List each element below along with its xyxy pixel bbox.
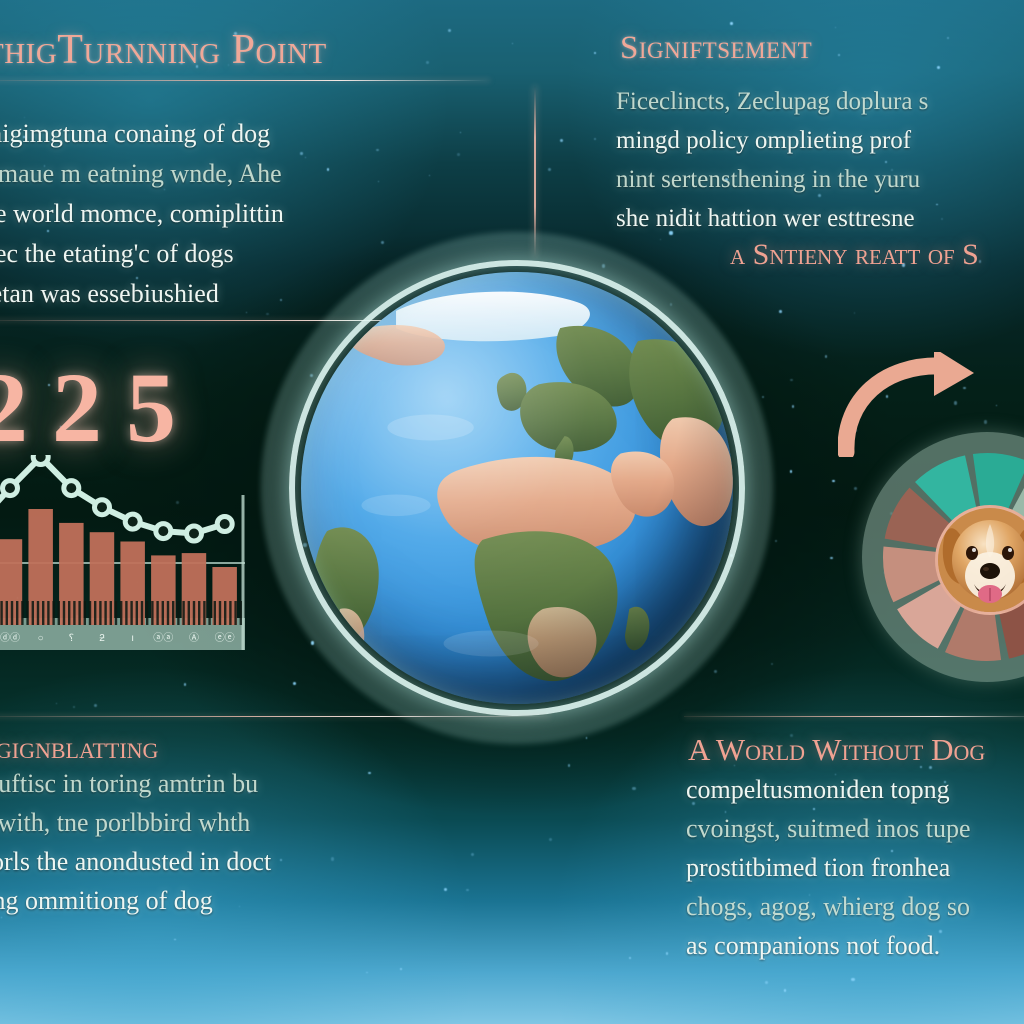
star-dot [300,152,302,154]
axis-tick [73,601,75,625]
star-dot [937,66,940,69]
globe-earth-icon [287,258,747,718]
panel-title-top-right: Signiftsement [620,30,812,67]
axis-tick [63,601,65,625]
star-dot [426,61,429,64]
axis-tick [47,601,49,625]
star-dot [184,683,186,685]
body-line: she nidit hattion wer esttresne [616,199,928,238]
star-dot [765,981,768,984]
x-tick-label: ı [131,633,134,644]
axis-tick [234,601,236,625]
panel-title-top-left: thigTurnning Point [0,26,327,74]
infographic-canvas: thigTurnning Point migimgtuna conaing of… [0,0,1024,1024]
axis-tick [68,601,70,625]
line-marker [33,455,48,465]
star-dot [549,838,552,841]
star-dot [632,787,635,790]
x-tick-label: ⓐⓐ [153,632,173,644]
body-line: prostitbimed tion fronhea [686,848,971,887]
star-dot [368,772,370,774]
axis-tick [21,601,23,625]
body-line: vorls the anondusted in doct [0,842,271,881]
star-dot [448,29,451,32]
axis-tick [151,601,153,625]
axis-tick [37,601,39,625]
divider-bottom-right [684,716,1024,717]
star-dot [457,153,460,156]
line-marker [125,514,140,529]
axis-tick [99,601,101,625]
axis-tick [193,601,195,625]
star-dot [666,952,669,955]
panel-title-bottom-left: ogignblatting [0,730,158,766]
axis-tick [162,601,164,625]
x-tick-label: ⓓⓓ [0,632,20,644]
axis-tick [130,601,132,625]
star-dot [378,181,379,182]
star-dot [629,957,631,959]
axis-tick [6,601,8,625]
axis-tick [141,601,143,625]
x-tick-label: ⸮ [69,633,74,644]
star-dot [851,978,854,981]
axis-tick [0,601,2,625]
axis-tick [188,601,190,625]
star-dot [779,310,782,313]
x-tick-label: ƻ [99,633,105,644]
star-dot [790,470,792,472]
star-dot [790,379,792,381]
body-line: mingd policy omplieting prof [616,121,928,160]
body-line: Ficeclincts, Zeclupag doplura s [616,82,928,121]
star-dot [771,663,773,665]
axis-tick [224,601,226,625]
star-dot [73,706,75,708]
axis-tick [89,601,91,625]
axis-tick [172,601,174,625]
dog-photo-icon [935,505,1024,615]
star-dot [947,37,949,39]
axis-tick [229,601,231,625]
x-tick-label: ⓔⓔ [215,632,235,644]
bar-series [0,509,237,625]
star-dot [594,138,596,140]
line-marker [217,517,232,532]
divider-top-left [0,80,490,81]
body-line: compeltusmoniden topng [686,770,971,809]
x-tick-label: Ⓐ [189,632,199,644]
star-dot [854,487,857,490]
axis-tick [26,601,28,625]
body-line: he world momce, comiplittin [0,194,284,234]
body-line: irmaue m eatning wnde, Ahe [0,154,284,194]
axis-tick [146,601,148,625]
axis-tick [208,601,210,625]
star-dot [825,355,828,358]
body-text-bottom-right: compeltusmoniden topng cvoingst, suitmed… [686,770,971,965]
star-dot [381,241,384,244]
axis-tick [177,601,179,625]
star-dot [838,54,840,56]
axis-tick [84,601,86,625]
star-dot [512,43,513,44]
star-dot [775,540,777,542]
axis-tick [120,601,122,625]
star-dot [280,859,282,861]
body-line: migimgtuna conaing of dog [0,114,284,154]
star-dot [376,149,379,152]
star-dot [94,704,97,707]
star-dot [936,204,938,206]
body-line: muftisc in toring amtrin bu [0,764,271,803]
x-tick-label: ○ [38,633,44,644]
divider-bottom-left [0,716,550,717]
axis-tick [214,601,216,625]
body-line: g with, tne porlbbird whth [0,803,271,842]
axis-tick [167,601,169,625]
star-dot [660,239,661,240]
axis-tick [203,601,205,625]
star-dot [941,218,943,220]
axis-tick [104,601,106,625]
star-dot [429,175,431,177]
axis-tick [156,601,158,625]
body-line: chogs, agog, whierg dog so [686,887,971,926]
star-dot [444,888,447,891]
axis-tick [78,601,80,625]
star-dot [594,52,597,55]
axis-tick [115,601,117,625]
body-text-bottom-left: muftisc in toring amtrin bu g with, tne … [0,764,271,920]
axis-tick [11,601,13,625]
accent-text-top-right: a Sntieny reatt of S [730,238,979,272]
star-dot [835,27,837,29]
body-line: ting ommitiong of dog [0,881,271,920]
body-text-top-right: Ficeclincts, Zeclupag doplura s mingd po… [616,82,928,238]
star-dot [568,764,570,766]
axis-tick [110,601,112,625]
globe-ring [289,260,745,716]
axis-tick [182,601,184,625]
body-line: cvoingst, suitmed inos tupe [686,809,971,848]
axis-tick [42,601,44,625]
star-dot [400,968,402,970]
star-dot [792,405,795,408]
pie-chart [862,432,1024,682]
line-marker [187,526,202,541]
body-line: as companions not food. [686,926,971,965]
panel-title-bottom-right: A World Without Dog [688,732,985,768]
star-dot [366,972,368,974]
star-dot [830,557,833,560]
line-marker [64,481,79,496]
combo-chart: ⓘⓘⓓⓓ○⸮ƻıⓐⓐⒶⓔⓔ [0,455,264,665]
star-dot [327,168,329,170]
star-dot [784,989,786,991]
axis-tick [240,601,242,625]
star-dot [560,139,563,142]
star-dot [979,260,981,262]
star-dot [548,168,551,171]
star-dot [56,703,57,704]
line-marker [95,500,110,515]
axis-tick [125,601,127,625]
axis-tick [136,601,138,625]
body-text-top-left: migimgtuna conaing of dog irmaue m eatni… [0,114,284,314]
star-dot [832,480,835,483]
star-dot [466,889,468,891]
star-dot [586,737,588,739]
combo-chart-svg: ⓘⓘⓓⓓ○⸮ƻıⓐⓐⒶⓔⓔ [0,455,264,665]
star-dot [305,157,306,158]
axis-tick [52,601,54,625]
star-dot [730,22,732,24]
star-dot [471,853,474,856]
axis-tick [219,601,221,625]
line-marker [156,524,171,539]
axis-tick [32,601,34,625]
star-dot [460,132,461,133]
axis-tick [198,601,200,625]
body-line: gec the etating'c of dogs [0,234,284,274]
axis-tick [58,601,60,625]
star-dot [174,939,175,940]
axis-tick [16,601,18,625]
star-dot [762,396,764,398]
axis-tick [94,601,96,625]
star-dot [331,857,334,860]
body-line: retan was essebiushied [0,274,284,314]
big-stat-value: 225 [0,350,200,465]
star-dot [854,312,855,313]
body-line: nint sertensthening in the yuru [616,160,928,199]
dog-photo-svg [938,508,1024,612]
line-marker [3,481,18,496]
